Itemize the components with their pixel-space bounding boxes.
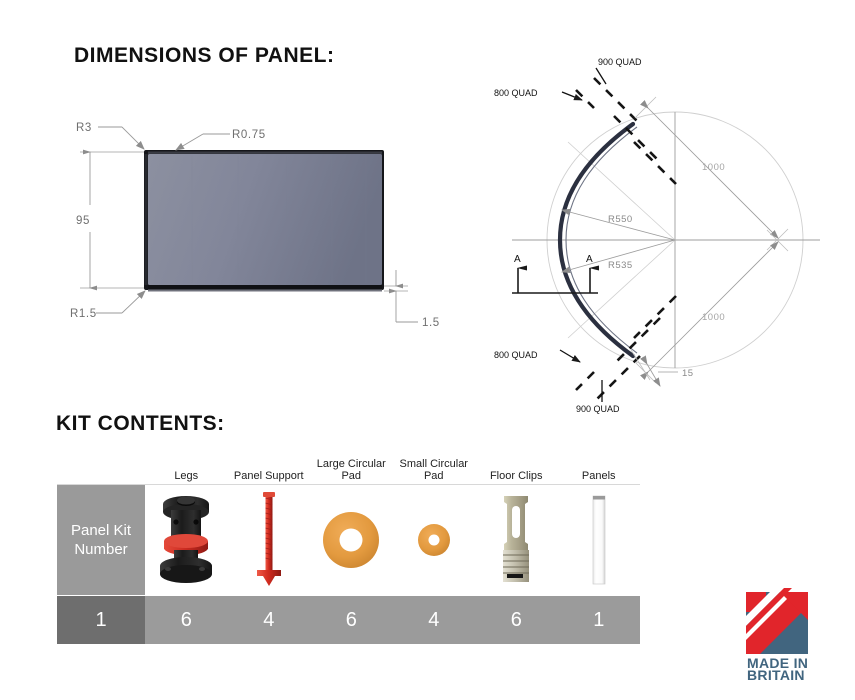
label-gap-15: 15 (682, 368, 694, 379)
kit-contents-heading: KIT CONTENTS: (56, 412, 225, 436)
panel-support-rod-icon (249, 490, 289, 590)
kit-number-value: 1 (57, 596, 145, 644)
panel-dimension-drawing: R3 R0.75 95 R1.5 1.5 (60, 110, 460, 350)
label-1000-top: 1000 (702, 162, 725, 173)
kit-row-label: Panel Kit Number (57, 485, 145, 595)
label-r550: R550 (608, 214, 633, 225)
kit-cell-panel-support (228, 485, 311, 595)
pedestal-leg-icon (154, 490, 218, 590)
made-in-britain-logo: MADE IN BRITAIN (740, 586, 836, 682)
label-height-95: 95 (76, 215, 90, 227)
kit-header-panel-support: Panel Support (228, 470, 311, 484)
spec-sheet-page: DIMENSIONS OF PANEL: (0, 0, 855, 700)
small-circular-pad-icon (414, 520, 454, 560)
label-r535: R535 (608, 260, 633, 271)
kit-cell-panels (558, 485, 641, 595)
arc-radius-drawing: 900 QUAD 800 QUAD 800 QUAD 900 QUAD R550… (490, 50, 855, 415)
label-900-quad-bottom: 900 QUAD (576, 404, 620, 414)
kit-contents-table: Legs Panel Support Large Circular Pad Sm… (57, 450, 640, 644)
kit-header-legs: Legs (145, 470, 228, 484)
kit-cell-large-circular-pad (310, 485, 393, 595)
kit-qty-legs: 6 (145, 596, 228, 644)
label-section-a-left: A (514, 254, 521, 265)
kit-cell-small-circular-pad (393, 485, 476, 595)
dimensions-of-panel-heading: DIMENSIONS OF PANEL: (74, 44, 334, 68)
kit-qty-panels: 1 (558, 596, 641, 644)
kit-table-header-row: Legs Panel Support Large Circular Pad Sm… (57, 450, 640, 484)
label-thickness-15: 1.5 (422, 317, 440, 329)
kit-table-quantity-row: 1 6 4 6 4 6 1 (57, 596, 640, 644)
label-r3: R3 (76, 122, 92, 134)
label-section-a-right: A (586, 254, 593, 265)
label-800-quad-bottom: 800 QUAD (494, 350, 538, 360)
label-800-quad-top: 800 QUAD (494, 88, 538, 98)
label-1000-bottom: 1000 (702, 312, 725, 323)
large-circular-pad-icon (319, 508, 383, 572)
kit-header-large-circular-pad: Large Circular Pad (310, 458, 393, 484)
floor-clip-icon (499, 494, 533, 586)
kit-qty-large-circular-pad: 6 (310, 596, 393, 644)
panel-strip-icon (588, 492, 610, 588)
kit-cell-legs (145, 485, 228, 595)
label-r075: R0.75 (232, 129, 266, 141)
made-in-britain-line2: BRITAIN (747, 667, 805, 682)
label-900-quad-top: 900 QUAD (598, 57, 642, 67)
kit-qty-floor-clips: 6 (475, 596, 558, 644)
kit-header-floor-clips: Floor Clips (475, 470, 558, 484)
label-r15: R1.5 (70, 308, 97, 320)
kit-qty-panel-support: 4 (228, 596, 311, 644)
kit-header-spacer (57, 482, 145, 484)
kit-cell-floor-clips (475, 485, 558, 595)
kit-table-item-row: Panel Kit Number (57, 484, 640, 596)
kit-header-small-circular-pad: Small Circular Pad (393, 458, 476, 484)
kit-header-panels: Panels (558, 470, 641, 484)
kit-qty-small-circular-pad: 4 (393, 596, 476, 644)
